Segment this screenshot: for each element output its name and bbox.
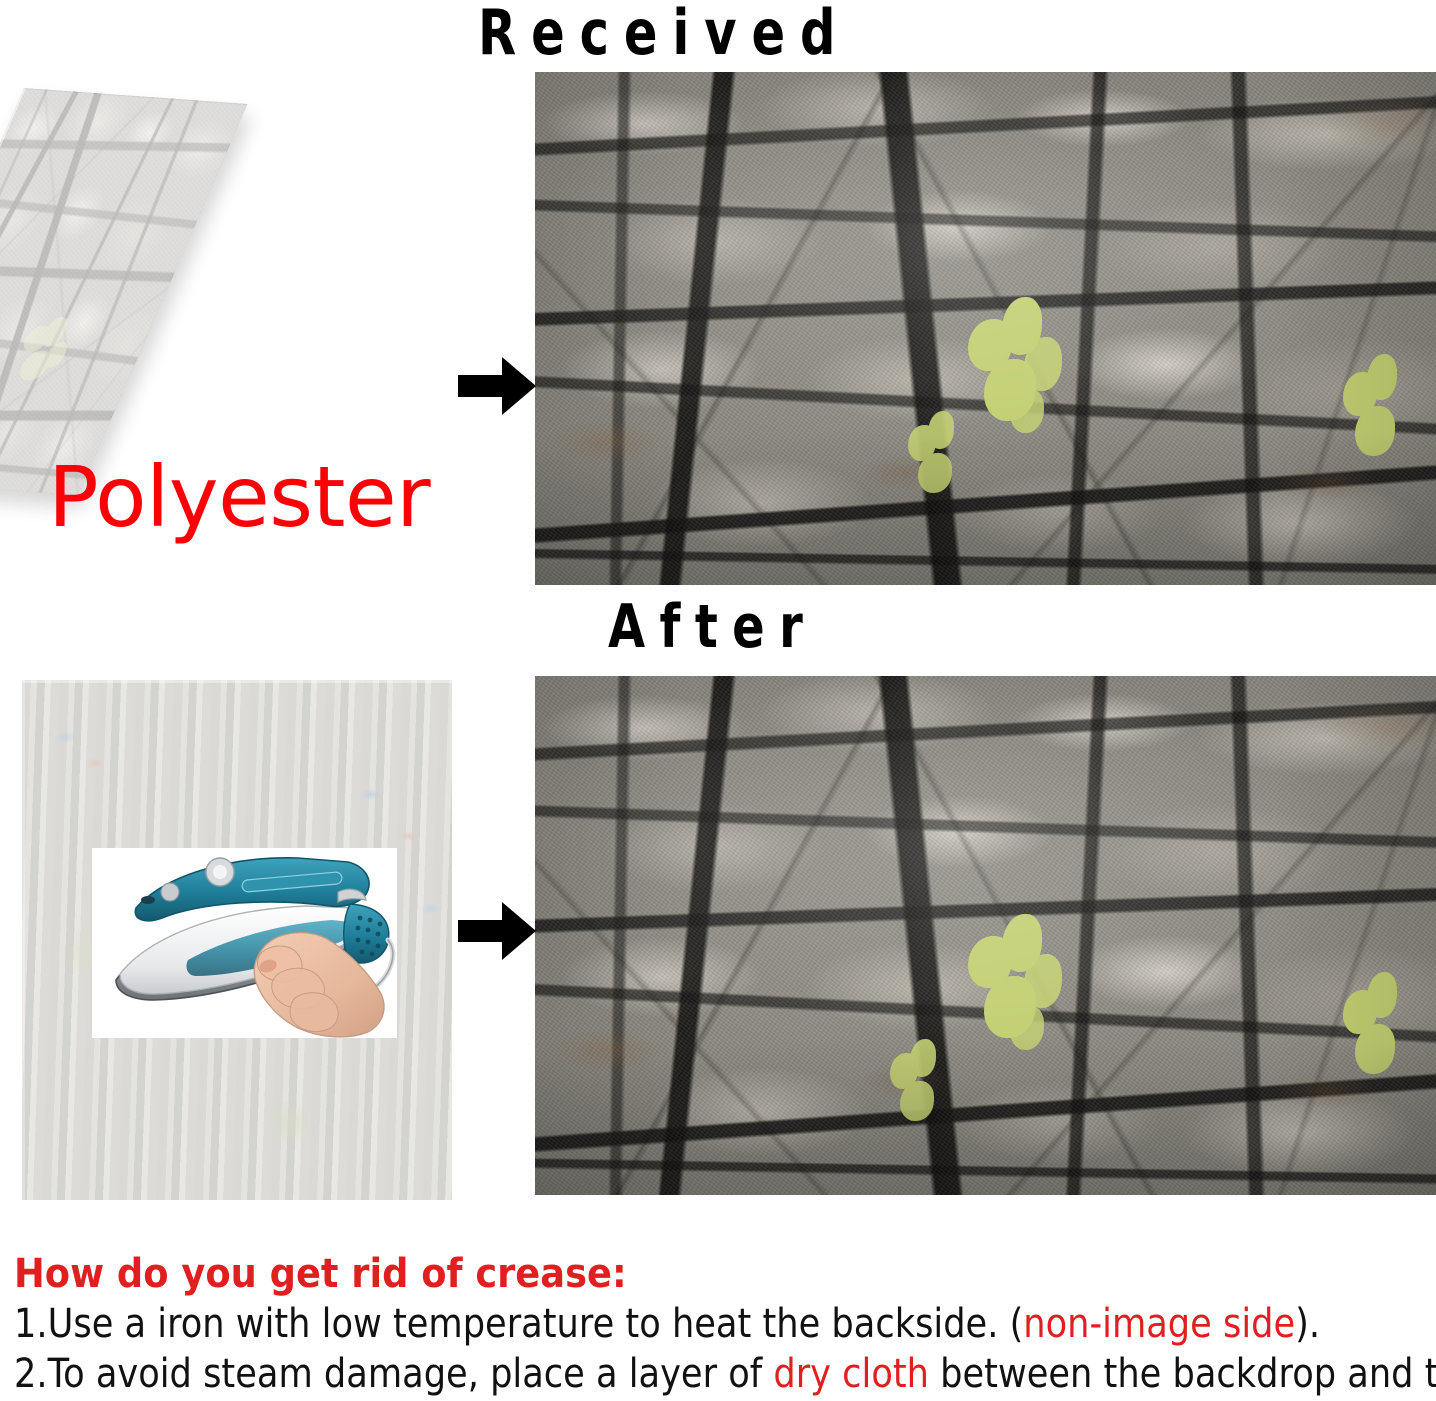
clothes-iron-icon <box>92 848 397 1038</box>
swatch-fold-lines <box>0 88 248 495</box>
instructions-heading: How do you get rid of crease: <box>14 1252 1313 1297</box>
received-section-title: Received <box>478 0 850 69</box>
after-rock-backdrop-photo <box>535 676 1436 1195</box>
folded-polyester-swatch <box>0 88 248 495</box>
instruction-line-2-pre: 2.To avoid steam damage, place a layer o… <box>14 1351 773 1397</box>
polyester-material-label: Polyester <box>48 455 430 539</box>
instruction-line-2: 2.To avoid steam damage, place a layer o… <box>14 1351 1257 1397</box>
arrow-right-icon <box>458 900 536 962</box>
rock-shading-layer <box>535 72 1436 585</box>
iron-vent-slot <box>141 896 155 904</box>
after-section-title: After <box>608 592 817 662</box>
received-rock-backdrop-photo <box>535 72 1436 585</box>
instruction-line-2-highlight: dry cloth <box>773 1351 929 1397</box>
instruction-line-1-highlight: non-image side <box>1023 1301 1295 1347</box>
instruction-line-1-pre: 1.Use a iron with low temperature to hea… <box>14 1301 1023 1347</box>
photo-texture-layers <box>535 72 1436 585</box>
hand-ironing-inset <box>92 848 397 1038</box>
instruction-line-2-post: between the backdrop and the iron. <box>929 1351 1436 1397</box>
rock-shading-layer <box>535 676 1436 1195</box>
crease-instructions-block: How do you get rid of crease: 1.Use a ir… <box>14 1252 1426 1398</box>
instruction-line-1-post: ). <box>1295 1301 1320 1347</box>
iron-heel-grille <box>344 904 389 963</box>
photo-texture-layers <box>535 676 1436 1195</box>
instruction-line-1: 1.Use a iron with low temperature to hea… <box>14 1301 1257 1347</box>
swatch-texture-layers <box>24 88 248 104</box>
arrow-right-icon <box>458 355 536 417</box>
iron-spray-button <box>161 883 179 901</box>
